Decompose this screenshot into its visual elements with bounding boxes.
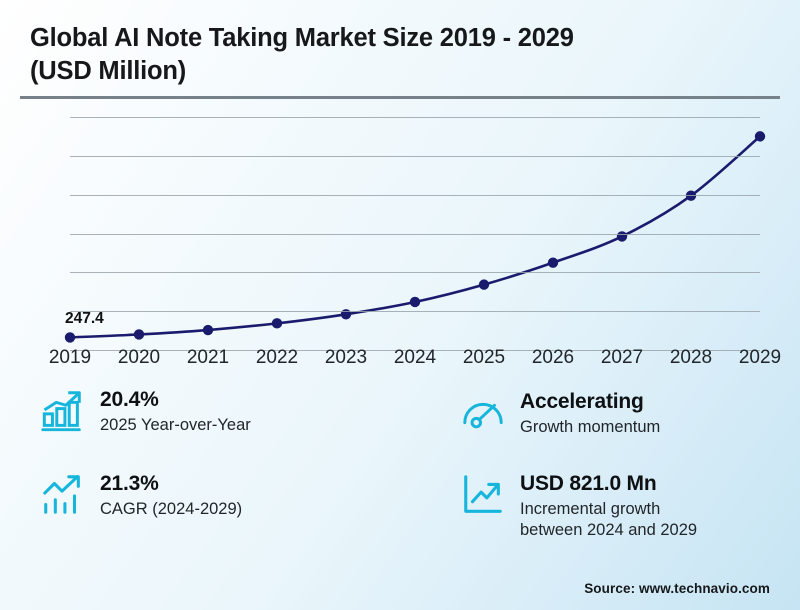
bar-chart-growth-icon	[40, 388, 86, 434]
title-divider	[20, 96, 780, 99]
x-axis-tick: 2029	[739, 347, 781, 369]
trend-up-bars-icon	[40, 472, 86, 518]
kpi-value: Accelerating	[520, 390, 660, 414]
page-title: Global AI Note Taking Market Size 2019 -…	[30, 22, 770, 87]
kpi-text: Accelerating Growth momentum	[520, 390, 660, 438]
x-axis-tick: 2027	[601, 347, 643, 369]
kpi-value: USD 821.0 Mn	[520, 472, 697, 496]
kpi-card-cagr: 21.3% CAGR (2024-2029)	[40, 472, 242, 520]
series-point	[203, 325, 213, 335]
x-axis-tick: 2026	[532, 347, 574, 369]
x-axis-tick: 2024	[394, 347, 436, 369]
kpi-value: 21.3%	[100, 472, 242, 496]
kpi-label: Growth momentum	[520, 417, 660, 438]
speedometer-gauge-icon	[460, 390, 506, 436]
axis-trend-arrow-icon	[460, 472, 506, 518]
kpi-card-momentum: Accelerating Growth momentum	[460, 390, 660, 438]
chart-gridline	[70, 195, 760, 196]
chart-gridline	[70, 272, 760, 273]
x-axis-tick: 2025	[463, 347, 505, 369]
series-point	[479, 279, 489, 289]
x-axis-tick: 2019	[49, 347, 91, 369]
kpi-text: USD 821.0 Mn Incremental growth between …	[520, 472, 697, 541]
kpi-text: 21.3% CAGR (2024-2029)	[100, 472, 242, 520]
series-point	[548, 257, 558, 267]
x-axis-tick: 2028	[670, 347, 712, 369]
series-point	[134, 329, 144, 339]
kpi-card-yoy: 20.4% 2025 Year-over-Year	[40, 388, 251, 436]
series-line	[70, 136, 760, 337]
source-attribution: Source: www.technavio.com	[584, 581, 770, 596]
x-axis-tick: 2021	[187, 347, 229, 369]
line-chart: 247.4 2019202020212022202320242025202620…	[0, 110, 800, 360]
chart-plot-area: 247.4	[70, 117, 760, 351]
header: Global AI Note Taking Market Size 2019 -…	[30, 22, 770, 87]
series-point	[617, 231, 627, 241]
chart-gridline	[70, 311, 760, 312]
x-axis-tick: 2022	[256, 347, 298, 369]
kpi-value: 20.4%	[100, 388, 251, 412]
x-axis-labels: 2019202020212022202320242025202620272028…	[70, 347, 760, 377]
infographic-canvas: Global AI Note Taking Market Size 2019 -…	[0, 0, 800, 610]
series-point	[65, 332, 75, 342]
kpi-card-incremental: USD 821.0 Mn Incremental growth between …	[460, 472, 697, 541]
kpi-label: Incremental growth between 2024 and 2029	[520, 499, 697, 541]
kpi-text: 20.4% 2025 Year-over-Year	[100, 388, 251, 436]
first-point-label: 247.4	[65, 310, 104, 328]
kpi-label: CAGR (2024-2029)	[100, 499, 242, 520]
x-axis-tick: 2020	[118, 347, 160, 369]
kpi-label: 2025 Year-over-Year	[100, 415, 251, 436]
x-axis-tick: 2023	[325, 347, 367, 369]
chart-gridline	[70, 156, 760, 157]
series-point	[410, 297, 420, 307]
chart-gridline	[70, 234, 760, 235]
chart-gridline	[70, 117, 760, 118]
series-point	[272, 318, 282, 328]
series-point	[755, 131, 765, 141]
